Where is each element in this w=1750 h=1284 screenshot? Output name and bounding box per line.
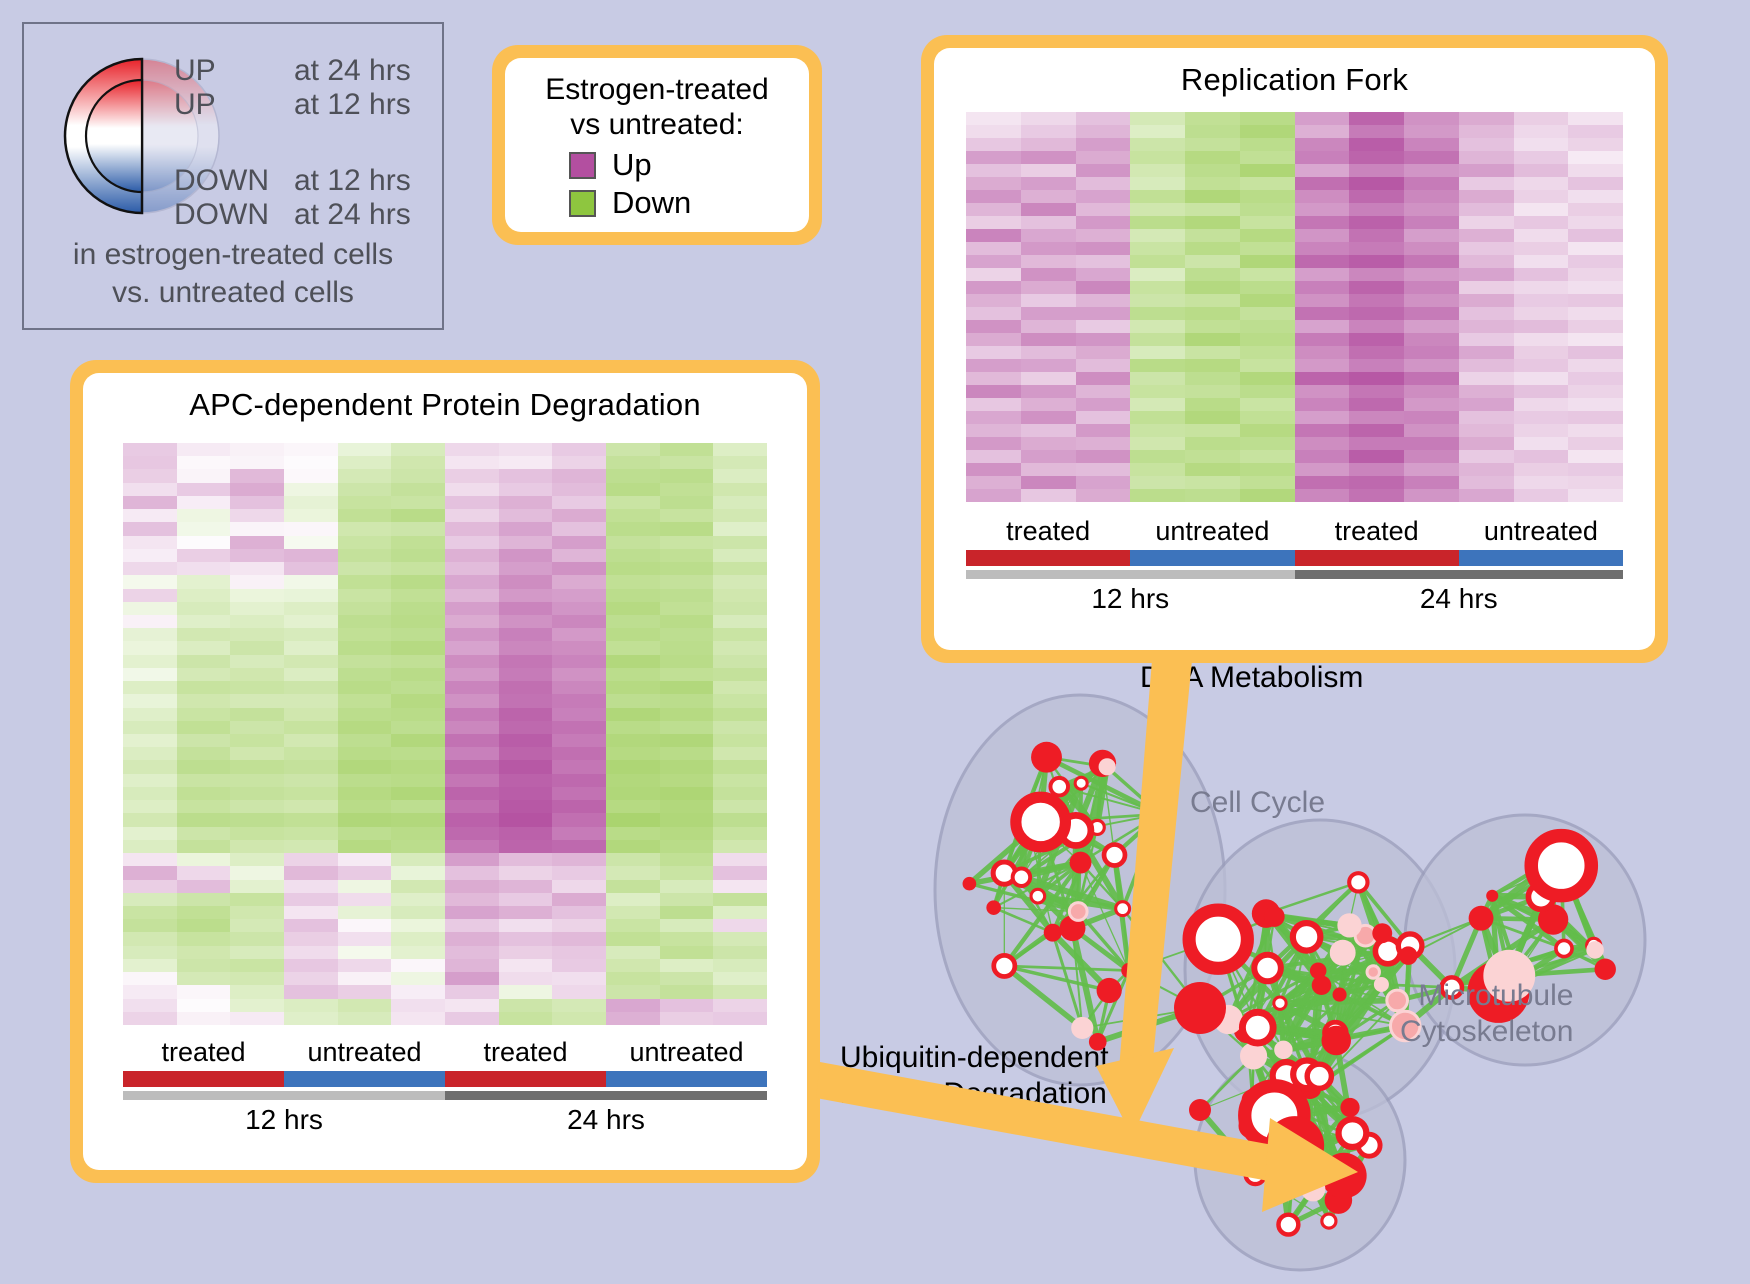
legend-item-list: Up Down xyxy=(521,146,793,222)
condition-bar-replication-fork xyxy=(966,550,1623,566)
condition-label: treated xyxy=(966,516,1130,547)
heatmap-apc xyxy=(123,443,767,1025)
wheel-direction: DOWN xyxy=(174,198,294,232)
legend-label-up: Up xyxy=(612,146,652,184)
timepoint-labels-apc: 12 hrs 24 hrs xyxy=(123,1104,767,1136)
legend-item-down: Down xyxy=(569,184,793,222)
timepoint-labels-replication-fork: 12 hrs 24 hrs xyxy=(966,583,1623,615)
wheel-caption: in estrogen-treated cells vs. untreated … xyxy=(24,236,442,312)
timepoint-label: 24 hrs xyxy=(445,1104,767,1136)
wheel-row: DOWNat 24 hrs xyxy=(174,198,411,232)
legend-heading-line1: Estrogen-treated xyxy=(521,72,793,107)
replication-fork-panel: Replication Fork treated untreated treat… xyxy=(921,35,1668,663)
condition-label: treated xyxy=(445,1037,606,1068)
condition-label: treated xyxy=(1295,516,1459,547)
color-wheel-legend: UPat 24 hrs UPat 12 hrs DOWNat 12 hrs DO… xyxy=(22,22,444,330)
color-wheel-label-list: UPat 24 hrs UPat 12 hrs DOWNat 12 hrs DO… xyxy=(174,54,411,232)
cluster-label-dna-metabolism: DNA Metabolism xyxy=(1140,660,1363,696)
timepoint-bar-replication-fork xyxy=(966,570,1623,579)
condition-labels-apc: treated untreated treated untreated xyxy=(123,1037,767,1068)
timepoint-label: 24 hrs xyxy=(1295,583,1624,615)
panel-title-apc: APC-dependent Protein Degradation xyxy=(83,373,807,423)
wheel-direction: UP xyxy=(174,54,294,88)
timepoint-label: 12 hrs xyxy=(966,583,1295,615)
cluster-label-ubiquitin: Ubiquitin-dependent Protein Degradation xyxy=(840,1040,1109,1112)
condition-labels-replication-fork: treated untreated treated untreated xyxy=(966,516,1623,547)
condition-bar-apc xyxy=(123,1071,767,1087)
condition-label: untreated xyxy=(1459,516,1623,547)
wheel-time: at 24 hrs xyxy=(294,198,411,232)
condition-label: untreated xyxy=(284,1037,445,1068)
updown-legend-panel: Estrogen-treated vs untreated: Up Down xyxy=(492,45,822,245)
pathway-network-graph: DNA Metabolism Cell Cycle Microtubule Cy… xyxy=(900,640,1750,1279)
legend-heading: Estrogen-treated vs untreated: xyxy=(521,72,793,142)
figure-canvas: UPat 24 hrs UPat 12 hrs DOWNat 12 hrs DO… xyxy=(0,0,1750,1279)
wheel-caption-line2: vs. untreated cells xyxy=(24,274,442,312)
swatch-down-icon xyxy=(569,190,596,217)
swatch-up-icon xyxy=(569,152,596,179)
cluster-label-cell-cycle: Cell Cycle xyxy=(1190,785,1325,821)
panel-title-replication-fork: Replication Fork xyxy=(934,48,1655,98)
wheel-time: at 12 hrs xyxy=(294,164,411,198)
legend-heading-line2: vs untreated: xyxy=(521,107,793,142)
wheel-direction: UP xyxy=(174,88,294,122)
heatmap-replication-fork xyxy=(966,112,1623,502)
condition-label: untreated xyxy=(606,1037,767,1068)
condition-label: untreated xyxy=(1130,516,1294,547)
wheel-caption-line1: in estrogen-treated cells xyxy=(24,236,442,274)
wheel-time: at 24 hrs xyxy=(294,54,411,88)
wheel-row: DOWNat 12 hrs xyxy=(174,164,411,198)
apc-degradation-panel: APC-dependent Protein Degradation treate… xyxy=(70,360,820,1183)
timepoint-bar-apc xyxy=(123,1091,767,1100)
timepoint-label: 12 hrs xyxy=(123,1104,445,1136)
wheel-row: UPat 12 hrs xyxy=(174,88,411,122)
wheel-row: UPat 24 hrs xyxy=(174,54,411,88)
legend-label-down: Down xyxy=(612,184,691,222)
cluster-label-microtubule: Microtubule Cytoskeleton xyxy=(1400,978,1573,1050)
condition-label: treated xyxy=(123,1037,284,1068)
network-svg xyxy=(900,640,1750,1279)
wheel-direction: DOWN xyxy=(174,164,294,198)
legend-item-up: Up xyxy=(569,146,793,184)
wheel-time: at 12 hrs xyxy=(294,88,411,122)
